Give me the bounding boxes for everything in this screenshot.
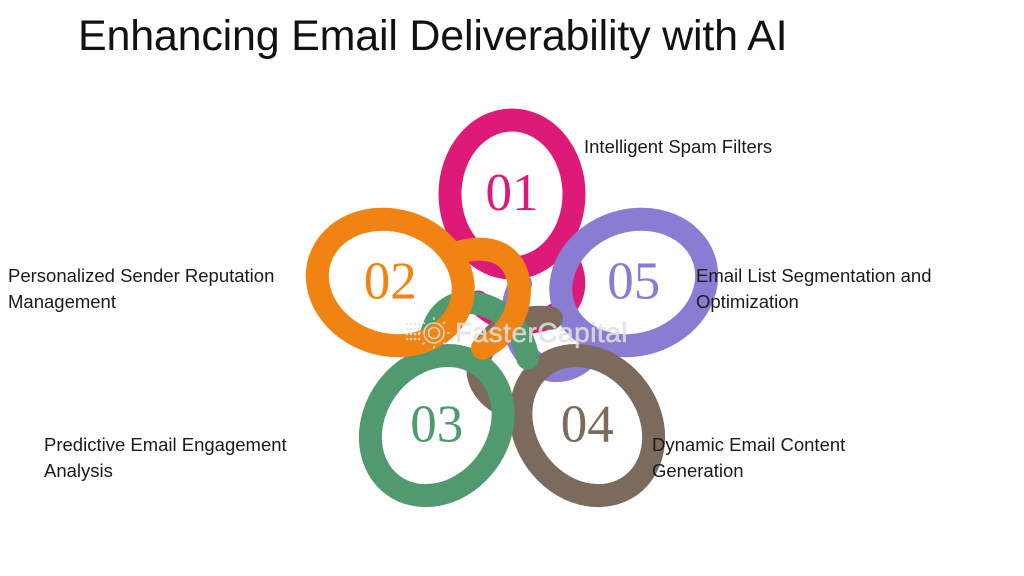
- callout-05-line-1: Email List Segmentation and: [696, 263, 932, 289]
- callout-04-line-1: Dynamic Email Content: [652, 432, 845, 458]
- callout-label-05: Email List Segmentation and Optimization: [696, 263, 932, 315]
- callout-01-line-1: Intelligent Spam Filters: [584, 134, 772, 160]
- callout-03-line-1: Predictive Email Engagement: [44, 432, 287, 458]
- callout-03-line-2: Analysis: [44, 458, 287, 484]
- callout-04-line-2: Generation: [652, 458, 845, 484]
- petal-04-number: 04: [561, 396, 614, 454]
- petal-02[interactable]: 02: [301, 201, 532, 381]
- slide-canvas: Enhancing Email Deliverability with AI 0…: [0, 0, 1024, 576]
- callout-02-line-1: Personalized Sender Reputation: [8, 263, 274, 289]
- petal-02-number: 02: [364, 252, 417, 310]
- petal-01-number: 01: [486, 164, 539, 222]
- callout-02-line-2: Management: [8, 289, 274, 315]
- callout-label-04: Dynamic Email Content Generation: [652, 432, 845, 484]
- callout-05-line-2: Optimization: [696, 289, 932, 315]
- callout-label-01: Intelligent Spam Filters: [584, 134, 772, 160]
- callout-label-02: Personalized Sender Reputation Managemen…: [8, 263, 274, 315]
- petal-03-number: 03: [410, 396, 463, 454]
- petal-05-number: 05: [607, 252, 660, 310]
- callout-label-03: Predictive Email Engagement Analysis: [44, 432, 287, 484]
